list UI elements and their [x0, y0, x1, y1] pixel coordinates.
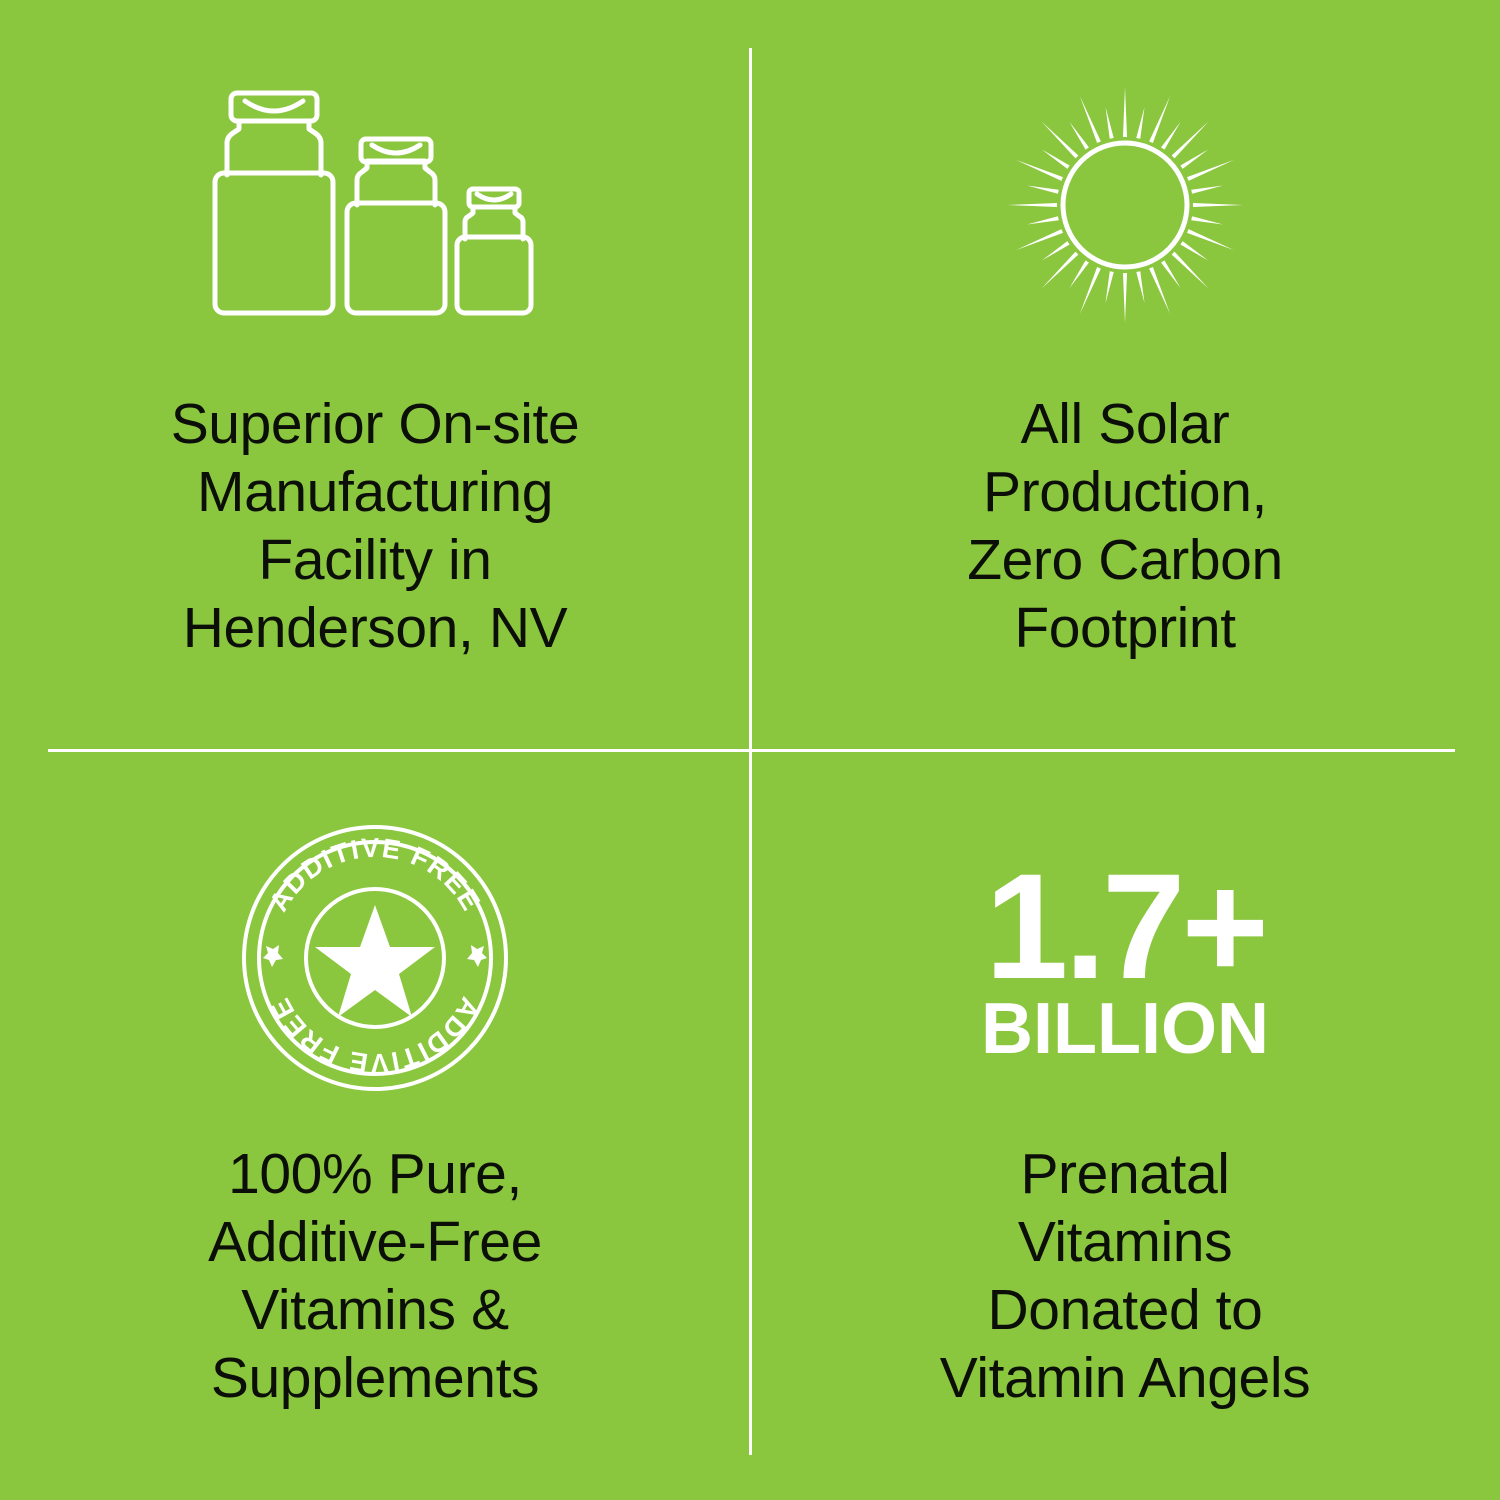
sun-ray — [1027, 216, 1059, 224]
sun-ray — [1123, 87, 1127, 137]
stat-unit: BILLION — [981, 992, 1269, 1066]
additive-free-badge-icon: ADDITIVE FREE ADDITIVE FREE — [240, 823, 510, 1093]
sun-ray — [1027, 185, 1059, 193]
sun-ray — [1069, 122, 1088, 150]
sun-ray — [1136, 271, 1144, 303]
sun-icon — [1005, 85, 1245, 325]
panel-additive-free: ADDITIVE FREE ADDITIVE FREE 100% Pure, A… — [0, 750, 750, 1500]
sun-ray — [1123, 273, 1127, 323]
sun-ray — [1191, 185, 1223, 193]
sun-ray — [1187, 229, 1234, 250]
benefits-infographic: Superior On-site Manufacturing Facility … — [0, 0, 1500, 1500]
sun-ray — [1149, 96, 1170, 143]
sun-ray — [1149, 267, 1170, 314]
sun-ray — [1193, 203, 1243, 207]
badge-center-star-icon — [315, 905, 435, 1017]
panel-caption: All Solar Production, Zero Carbon Footpr… — [805, 390, 1445, 662]
panel-caption: Superior On-site Manufacturing Facility … — [55, 390, 695, 662]
icon-slot: 1.7+ BILLION — [750, 750, 1500, 1140]
sun-ray — [1016, 160, 1063, 181]
sun-ray — [1180, 241, 1208, 260]
sun-ray — [1080, 267, 1101, 314]
sun-ray — [1161, 122, 1180, 150]
sun-ray — [1016, 229, 1063, 250]
sun-ray — [1180, 149, 1208, 168]
icon-slot — [0, 0, 750, 390]
badge-star-left-icon — [263, 945, 283, 967]
sun-ray — [1007, 203, 1057, 207]
panel-solar-production: All Solar Production, Zero Carbon Footpr… — [750, 0, 1500, 750]
sun-ray — [1187, 160, 1234, 181]
icon-slot — [750, 0, 1500, 390]
stat-block: 1.7+ BILLION — [981, 860, 1269, 1066]
panel-caption: Prenatal Vitamins Donated to Vitamin Ang… — [805, 1140, 1445, 1412]
sun-ray — [1105, 107, 1113, 139]
sun-ray — [1136, 107, 1144, 139]
panel-caption: 100% Pure, Additive-Free Vitamins & Supp… — [55, 1140, 695, 1412]
panel-vitamin-angels-donation: 1.7+ BILLION Prenatal Vitamins Donated t… — [750, 750, 1500, 1500]
badge-star-right-icon — [467, 945, 487, 967]
sun-ray — [1042, 149, 1070, 168]
sun-ray — [1069, 260, 1088, 288]
sun-ray — [1161, 260, 1180, 288]
sun-ray — [1191, 216, 1223, 224]
icon-slot: ADDITIVE FREE ADDITIVE FREE — [0, 750, 750, 1140]
supplement-bottles-icon — [195, 85, 555, 335]
stat-number: 1.7+ — [985, 860, 1265, 992]
panel-on-site-manufacturing: Superior On-site Manufacturing Facility … — [0, 0, 750, 750]
sun-ray — [1080, 96, 1101, 143]
sun-ray — [1042, 241, 1070, 260]
badge-text-top: ADDITIVE FREE — [263, 833, 486, 917]
sun-ray — [1105, 271, 1113, 303]
